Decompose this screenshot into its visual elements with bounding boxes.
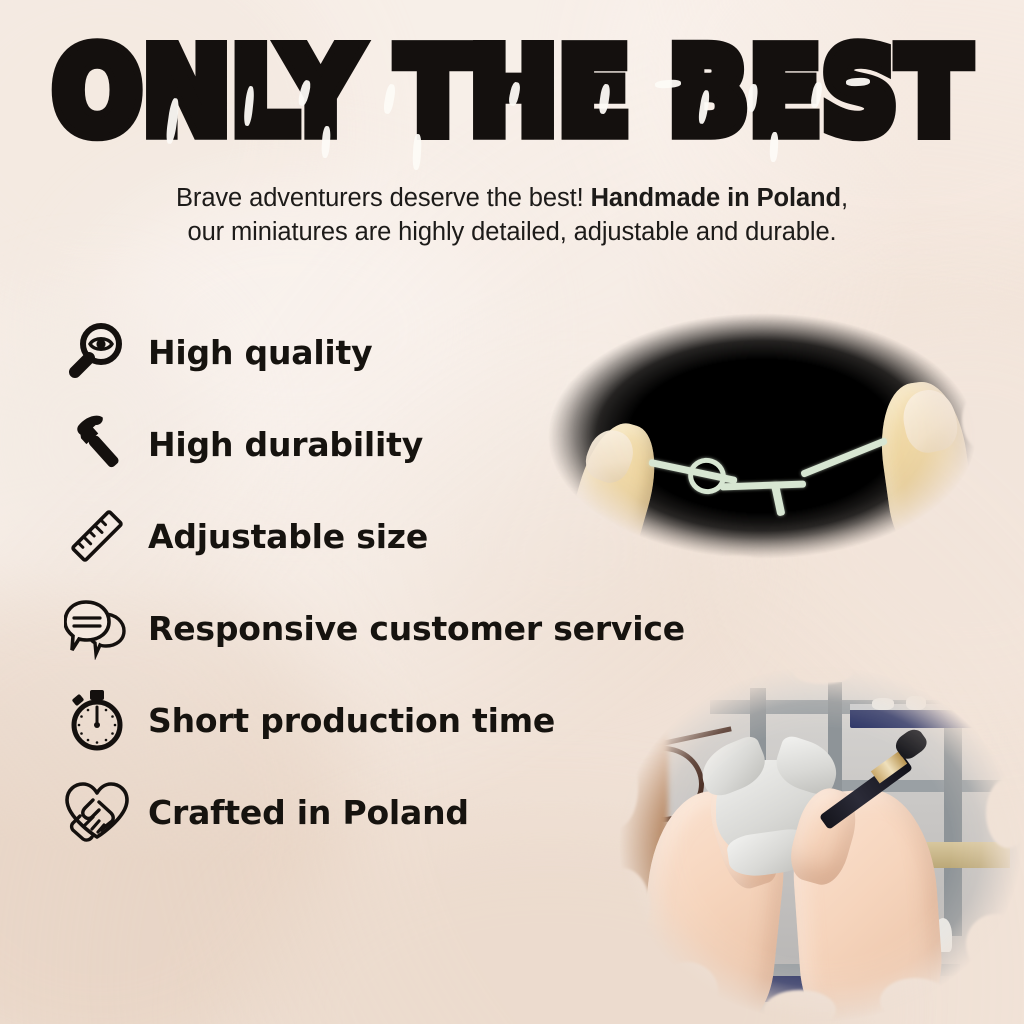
feature-item-adjustable-size: Adjustable size [58,490,758,582]
speech-bubbles-icon [58,592,136,664]
subtitle-line-2: our miniatures are highly detailed, adju… [187,218,836,246]
subtitle-lead: Brave adventurers deserve the best! [176,184,591,212]
headline-container: ONLY THE BEST [0,34,1024,138]
handshake-heart-icon [58,776,136,848]
feature-label: Short production time [148,701,555,740]
subtitle: Brave adventurers deserve the best! Hand… [0,182,1024,250]
ruler-icon [58,500,136,572]
infographic-canvas: ONLY THE BEST Brave adventurers deserve … [0,0,1024,1024]
page-title: ONLY THE BEST [53,34,971,150]
feature-item-short-production-time: Short production time [58,674,758,766]
magnifier-eye-icon [58,316,136,388]
feature-list: High quality High durability [58,306,758,858]
feature-item-responsive-customer-service: Responsive customer service [58,582,758,674]
subtitle-comma: , [841,184,848,212]
stopwatch-icon [58,684,136,756]
feature-item-high-quality: High quality [58,306,758,398]
feature-label: Responsive customer service [148,609,685,648]
hammer-icon [58,408,136,480]
subtitle-highlight: Handmade in Poland [591,184,841,212]
feature-item-high-durability: High durability [58,398,758,490]
feature-label: Crafted in Poland [148,793,469,832]
feature-item-crafted-in-poland: Crafted in Poland [58,766,758,858]
feature-label: Adjustable size [148,517,428,556]
feature-label: High durability [148,425,423,464]
feature-label: High quality [148,333,372,372]
